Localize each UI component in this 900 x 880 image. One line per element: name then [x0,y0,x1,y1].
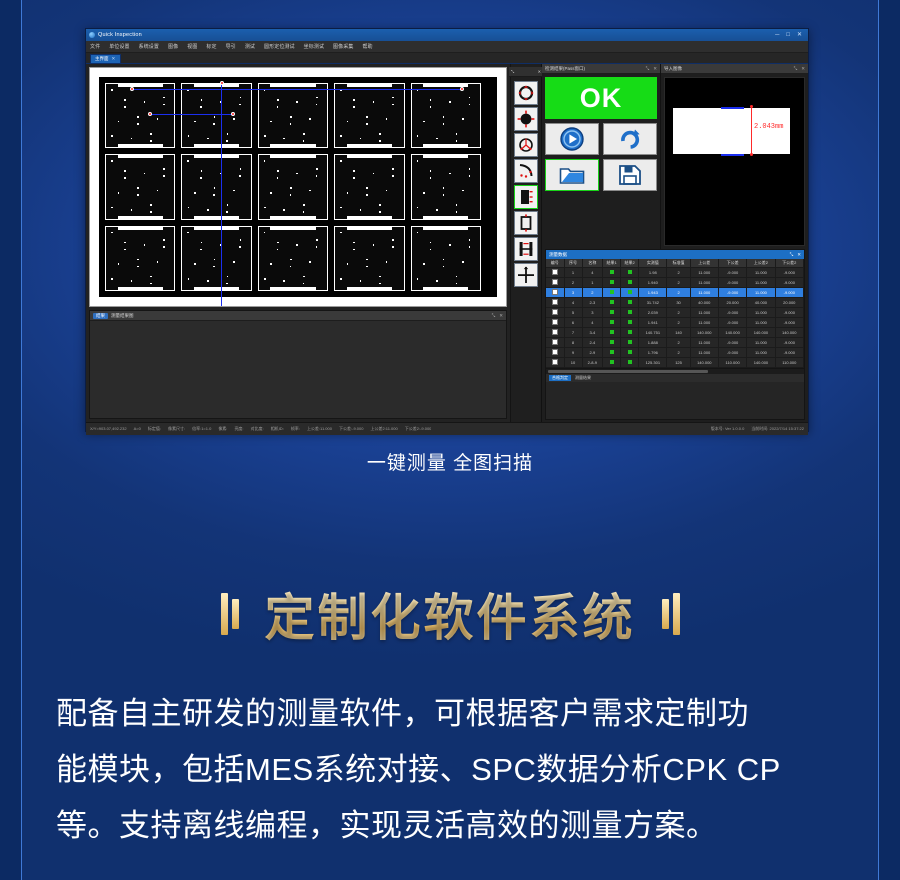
result-image-dock-icon[interactable]: ⤡ [492,313,496,319]
menu-item-capture[interactable]: 图像采集 [333,43,353,50]
panel-dot [340,232,342,234]
col-r2[interactable]: 结果2 [621,259,639,268]
panel-dot [124,177,126,179]
row-measured: 2.039 [639,308,667,318]
panel-cell [411,226,481,291]
panel-dot [111,135,113,137]
panel-pad [270,144,315,148]
table-footer: 合格判定 测量结果 [546,374,804,382]
row-lower-tol2: -9.000 [775,318,803,328]
panel-pad [194,144,239,148]
row-result-2 [621,278,639,288]
panel-dot [296,101,298,103]
panel-dot [379,133,381,135]
panel-dot [124,106,126,108]
action-button-row-2 [545,159,657,191]
result-panel-dock-icon[interactable]: ⤡ [646,66,650,72]
panel-dot [386,261,388,263]
panel-dot [124,99,126,101]
row-lower-tol: -9.000 [718,348,746,358]
row-upper-tol: 11.000 [690,348,718,358]
panel-dot [240,97,242,99]
panel-dot [309,261,311,263]
row-upper-tol: 40.000 [690,298,718,308]
panel-dot [392,168,394,170]
status-item: 当前时间: 2022/7/14 15:37:22 [751,426,804,432]
panel-dot [137,116,139,118]
panel-dot [124,242,126,244]
panel-dot [137,259,139,261]
panel-dot [303,283,305,285]
row-upper-tol2: 140.000 [747,358,775,368]
status-item: 像素尺寸: [168,426,185,432]
panel-dot [214,259,216,261]
tool-palette-dock-icon[interactable]: ⤡ [511,69,514,74]
row-upper-tol: 11.000 [690,338,718,348]
panel-dot [264,160,266,162]
measure-cap-top [750,105,753,108]
row-index: 7 [564,328,582,338]
row-lower-tol: -9.000 [718,318,746,328]
circle-outline-tool[interactable] [514,81,538,105]
panel-dot [111,160,113,162]
col-ut2[interactable]: 上公差2 [747,259,775,268]
panel-dot [239,175,241,177]
panel-dot [353,242,355,244]
panel-cell [181,154,251,219]
table-row[interactable]: 42-331.7423040.00020.00040.00020.000 [546,298,804,308]
panel-dot [373,244,375,246]
panel-dot [188,135,190,137]
camera-view[interactable]: 2.043mm [664,77,805,246]
filled-circle-tool[interactable] [514,107,538,131]
panel-dot [303,276,305,278]
panel-dot [340,278,342,280]
table-row[interactable]: 211.940211.000-9.00011.000-9.000 [546,278,804,288]
menu-item-view[interactable]: 视图 [187,43,197,50]
panel-dot [303,204,305,206]
panel-dot [277,249,279,251]
panel-dot [366,194,368,196]
row-checkbox[interactable] [546,318,564,328]
panel-dot [226,283,228,285]
menu-item-circletest[interactable]: 圆形定位测试 [264,43,295,50]
panel-dot [386,190,388,192]
panel-dot [456,283,458,285]
panel-dot [353,99,355,101]
row-upper-tol: 11.000 [690,268,718,278]
camera-panel-close-icon[interactable]: ✕ [801,66,805,72]
row-measured: 1.796 [639,348,667,358]
panel-pad [118,226,163,230]
col-r1[interactable]: 结果1 [603,259,621,268]
right-top-row: 检测结果(Pass窗口) ⤡ ✕ OK [542,64,808,249]
row-lower-tol: -9.000 [718,338,746,348]
camera-panel-header: 导入图像 ⤡ ✕ [661,64,808,74]
panel-dot [227,133,229,135]
result-image-canvas[interactable] [90,321,506,418]
tab-close-icon[interactable]: ✕ [112,56,116,62]
menu-item-calib[interactable]: 标定 [206,43,216,50]
panel-cell [105,226,175,291]
table-row[interactable]: 102-8-9125.301125140.000110.000140.00011… [546,358,804,368]
panel-dot [366,123,368,125]
result-panel-close-icon[interactable]: ✕ [653,66,657,72]
panel-dot [131,138,133,140]
panel-pad [270,83,315,87]
row-result-1 [603,308,621,318]
table-footer-badge: 合格判定 [549,375,571,381]
panel-dot [270,263,272,265]
panel-pad [347,83,392,87]
table-row[interactable]: 321.943211.000-9.00011.000-9.000 [546,288,804,298]
circle-points-tool[interactable] [514,133,538,157]
row-name: 3 [582,308,603,318]
row-checkbox[interactable] [546,308,564,318]
row-result-1 [603,348,621,358]
row-result-2 [621,308,639,318]
panel-pad [347,226,392,230]
row-result-2 [621,328,639,338]
row-result-1 [603,298,621,308]
panel-pad [423,144,468,148]
panel-dot [213,266,215,268]
maximize-button[interactable]: □ [786,32,790,38]
panel-dot [157,118,159,120]
panel-dot [163,168,165,170]
panel-dot [264,135,266,137]
panel-dot [456,140,458,142]
measure-horizontal-line-mid [150,114,233,115]
menu-item-image[interactable]: 图像 [168,43,178,50]
save-button[interactable] [603,159,657,191]
menu-item-unit[interactable]: 单位设置 [109,43,129,50]
status-badge-ok: OK [545,77,657,119]
panel-dot [462,190,464,192]
panel-dot [111,278,113,280]
row-checkbox[interactable] [546,328,564,338]
panel-dot [309,190,311,192]
panel-dot [392,239,394,241]
panel-dot [227,204,229,206]
panel-dot [233,261,235,263]
status-item: 亮度: [234,426,243,432]
panel-dot [207,138,209,140]
panel-cell [334,154,404,219]
panel-dot [360,138,362,140]
col-lt2[interactable]: 下公差2 [775,259,803,268]
measurement-table-close-icon[interactable]: ✕ [797,252,801,258]
row-upper-tol: 11.000 [690,318,718,328]
col-meas[interactable]: 实测值 [639,259,667,268]
measure-vertical-line [221,82,222,307]
panel-pad [118,287,163,291]
arc-tool[interactable] [514,159,538,183]
row-checkbox[interactable] [546,348,564,358]
panel-dot [277,170,279,172]
row-lower-tol: 140.000 [718,328,746,338]
table-row[interactable]: 641.941211.000-9.00011.000-9.000 [546,318,804,328]
panel-pad [194,216,239,220]
status-item: 上公差:11.000 [307,426,332,432]
status-bar-right: 版本号: Ver 1.0.0.0当前时间: 2022/7/14 15:37:22 [711,426,804,432]
panel-dot [366,116,368,118]
menu-item-coordtest[interactable]: 坐标测试 [304,43,324,50]
panel-dot [353,170,355,172]
panel-dot [207,280,209,282]
panel-dot [296,244,298,246]
panel-dot [283,138,285,140]
row-result-2 [621,358,639,368]
panel-dot [436,209,438,211]
panel-pad [194,154,239,158]
col-ut[interactable]: 上公差 [690,259,718,268]
panel-dot [340,160,342,162]
result-image-badge: 结果 [93,313,108,319]
status-item: 上公差2:11.000 [370,426,397,432]
table-row[interactable]: 92-91.796211.000-9.00011.000-9.000 [546,348,804,358]
row-checkbox[interactable] [546,298,564,308]
result-panel: 检测结果(Pass窗口) ⤡ ✕ OK [542,64,661,249]
row-measured: 1.941 [639,318,667,328]
panel-dot [277,177,279,179]
panel-dot [316,239,318,241]
row-standard: 2 [667,338,690,348]
menu-item-system[interactable]: 系统设置 [139,43,159,50]
panel-dot [144,244,146,246]
panel-cell [105,83,175,148]
result-image-pane: 结果 测量结果图 ⤡ ✕ [89,310,507,419]
row-result-2 [621,348,639,358]
panel-dot [150,211,152,213]
col-idx[interactable]: 序号 [564,259,582,268]
panel-pad [347,154,392,158]
row-measured: 125.301 [639,358,667,368]
row-lower-tol2: 20.000 [775,298,803,308]
panel-dot [264,278,266,280]
row-result-1 [603,278,621,288]
panel-dot [379,211,381,213]
refresh-button[interactable] [603,123,657,155]
result-image-close-icon[interactable]: ✕ [499,313,503,319]
panel-dot [456,276,458,278]
panel-dot [449,244,451,246]
crosshair-tool[interactable] [514,263,538,287]
panel-dot [240,239,242,241]
camera-panel-dock-icon[interactable]: ⤡ [794,66,798,72]
row-standard: 2 [667,278,690,288]
scan-viewport[interactable] [89,67,507,307]
row-lower-tol2: -9.000 [775,348,803,358]
panel-dot [118,121,120,123]
status-item: A=0 [134,426,141,432]
panel-pad [347,216,392,220]
paragraph-line: 能模块，包括MES系统对接、SPC数据分析CPK CP [56,742,844,798]
panel-dot [417,207,419,209]
measurement-table-dock-icon[interactable]: ⤡ [790,252,794,258]
row-checkbox[interactable] [546,338,564,348]
panel-dot [283,280,285,282]
panel-dot [187,232,189,234]
row-lower-tol2: -9.000 [775,338,803,348]
panel-dot [417,160,419,162]
minimize-button[interactable]: ─ [775,32,779,38]
panel-pad [118,83,163,87]
panel-cell [258,83,328,148]
close-button[interactable]: ✕ [797,32,802,38]
row-standard: 2 [667,288,690,298]
panel-dot [163,104,165,106]
panel-dot [443,187,445,189]
panel-dot [417,232,419,234]
row-upper-tol2: 11.000 [747,308,775,318]
panel-dot [366,187,368,189]
panel-dot [290,259,292,261]
left-column: 结果 测量结果图 ⤡ ✕ [86,64,511,422]
panel-cell [334,83,404,148]
row-upper-tol2: 11.000 [747,288,775,298]
open-folder-button[interactable] [545,159,599,191]
row-upper-tol: 11.000 [690,278,718,288]
row-lower-tol2: -9.000 [775,288,803,298]
panel-dot [462,118,464,120]
panel-dot [137,194,139,196]
panel-dot [469,239,471,241]
panel-dot [366,259,368,261]
row-index: 8 [564,338,582,348]
panel-dot [430,249,432,251]
tab-main[interactable]: 主界面 ✕ [90,54,121,63]
status-item: 像素: [218,426,227,432]
panel-dot [430,99,432,101]
panel-dot [233,118,235,120]
panel-dot [157,261,159,263]
panel-dot [443,194,445,196]
panel-dot [417,135,419,137]
table-row[interactable]: 141.98211.000-9.00011.000-9.000 [546,268,804,278]
status-item: 下公差2:-9.000 [405,426,432,432]
paragraph-line: 等。支持离线编程，实现灵活高效的测量方案。 [56,798,844,854]
panel-cell [105,154,175,219]
row-result-2 [621,338,639,348]
tool-palette-close-icon[interactable]: ✕ [538,69,541,74]
row-checkbox[interactable] [546,278,564,288]
row-lower-tol: 20.000 [718,298,746,308]
row-measured: 1.98 [639,268,667,278]
measure-cap-bottom [750,153,753,156]
panel-dot [240,168,242,170]
result-panel-title: 检测结果(Pass窗口) [545,66,585,72]
result-panel-header: 检测结果(Pass窗口) ⤡ ✕ [542,64,660,74]
panel-dot [469,246,471,248]
table-horizontal-scrollbar[interactable] [546,368,804,374]
panel-dot [423,192,425,194]
panel-dot [131,280,133,282]
heading-ornament-left [221,593,239,635]
menu-item-guide[interactable]: 导引 [226,43,236,50]
panel-dot [290,187,292,189]
run-button[interactable] [545,123,599,155]
panel-dot [233,190,235,192]
row-standard: 2 [667,318,690,328]
section-heading: 定制化软件系统 [0,578,900,650]
screenshot-caption: 一键测量 全图扫描 [0,448,900,475]
measure-caliper-line [751,107,752,155]
panel-dot [347,121,349,123]
panel-dot [188,278,190,280]
panel-dot [264,207,266,209]
menu-item-test[interactable]: 测试 [245,43,255,50]
panel-dot [353,106,355,108]
row-standard: 30 [667,298,690,308]
col-name[interactable]: 名称 [582,259,603,268]
panel-dot [423,121,425,123]
panel-dot [124,170,126,172]
panel-dot [379,276,381,278]
section-paragraph: 配备自主研发的测量软件，可根据客户需求定制功能模块，包括MES系统对接、SPC数… [56,686,844,854]
status-item: 下公差:-9.000 [339,426,363,432]
panel-cell [334,226,404,291]
panel-dot [379,140,381,142]
panel-dot [290,194,292,196]
panel-pad [270,226,315,230]
row-name: 4 [582,268,603,278]
panel-dot [469,175,471,177]
span-tool[interactable] [514,237,538,261]
menu-item-file[interactable]: 文件 [90,43,100,50]
camera-edge-line-top [721,107,744,109]
panel-dot [150,276,152,278]
panel-dot [373,101,375,103]
status-item: 标定值: [148,426,161,432]
row-standard: 140 [667,328,690,338]
table-row[interactable]: 73-4140.751140140.000140.000140.000140.0… [546,328,804,338]
rect-height-tool[interactable] [514,211,538,235]
row-checkbox[interactable] [546,358,564,368]
panel-dot [340,207,342,209]
paragraph-line: 配备自主研发的测量软件，可根据客户需求定制功 [56,686,844,742]
panel-dot [316,97,318,99]
status-item: 对比度: [251,426,264,432]
panel-dot [303,211,305,213]
action-button-row-1 [545,123,657,155]
table-row[interactable]: 532.039211.000-9.00011.000-9.000 [546,308,804,318]
panel-dot [430,106,432,108]
row-upper-tol2: 11.000 [747,338,775,348]
camera-edge-line-bottom [721,154,744,156]
col-lt[interactable]: 下公差 [718,259,746,268]
rect-width-tool[interactable] [514,185,538,209]
panel-dot [379,283,381,285]
row-lower-tol: -9.000 [718,278,746,288]
panel-dot [347,263,349,265]
status-bar: X/Y=903.07,492.232A=0标定值:像素尺寸:倍率:1=1.0像素… [86,422,808,435]
row-checkbox[interactable] [546,288,564,298]
row-measured: 1.888 [639,338,667,348]
panel-dot [449,173,451,175]
col-no[interactable]: 编号 [546,259,564,268]
panel-pad [423,154,468,158]
window-titlebar: Quick Inspection ─ □ ✕ [86,29,808,41]
row-checkbox[interactable] [546,268,564,278]
measurement-table[interactable]: 编号 序号 名称 结果1 结果2 实测值 标准值 上公差 下公差 上公差2 下公 [546,259,804,368]
row-lower-tol2: -9.000 [775,268,803,278]
menu-item-help[interactable]: 帮助 [362,43,372,50]
row-upper-tol: 140.000 [690,358,718,368]
col-std[interactable]: 标准值 [667,259,690,268]
row-index: 6 [564,318,582,328]
table-row[interactable]: 82-41.888211.000-9.00011.000-9.000 [546,338,804,348]
